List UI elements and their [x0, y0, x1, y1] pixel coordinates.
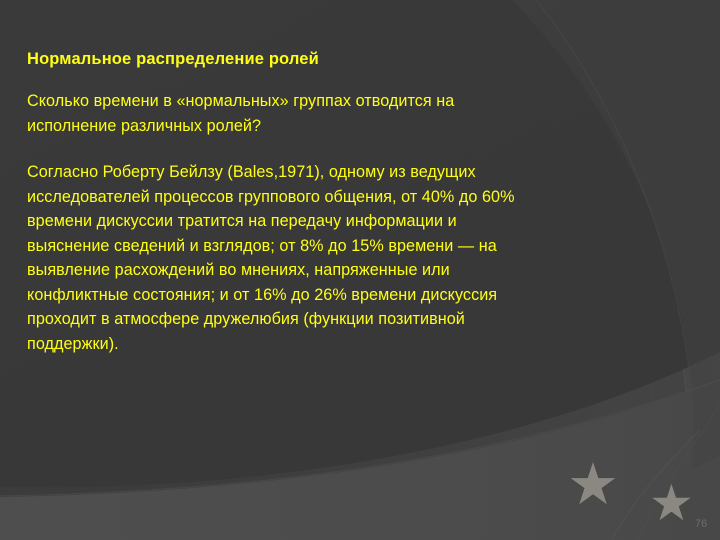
- star-icon-small: ★: [649, 478, 694, 528]
- star-icon-large: ★: [567, 456, 619, 514]
- slide-paragraph-question: Сколько времени в «нормальных» группах о…: [27, 89, 492, 138]
- page-number: 76: [690, 518, 712, 530]
- slide-text-block: Нормальное распределение ролей Сколько в…: [27, 49, 587, 356]
- slide-canvas: Нормальное распределение ролей Сколько в…: [0, 0, 720, 540]
- slide-title: Нормальное распределение ролей: [27, 49, 587, 69]
- slide-paragraph-body: Согласно Роберту Бейлзу (Bales,1971), од…: [27, 160, 542, 356]
